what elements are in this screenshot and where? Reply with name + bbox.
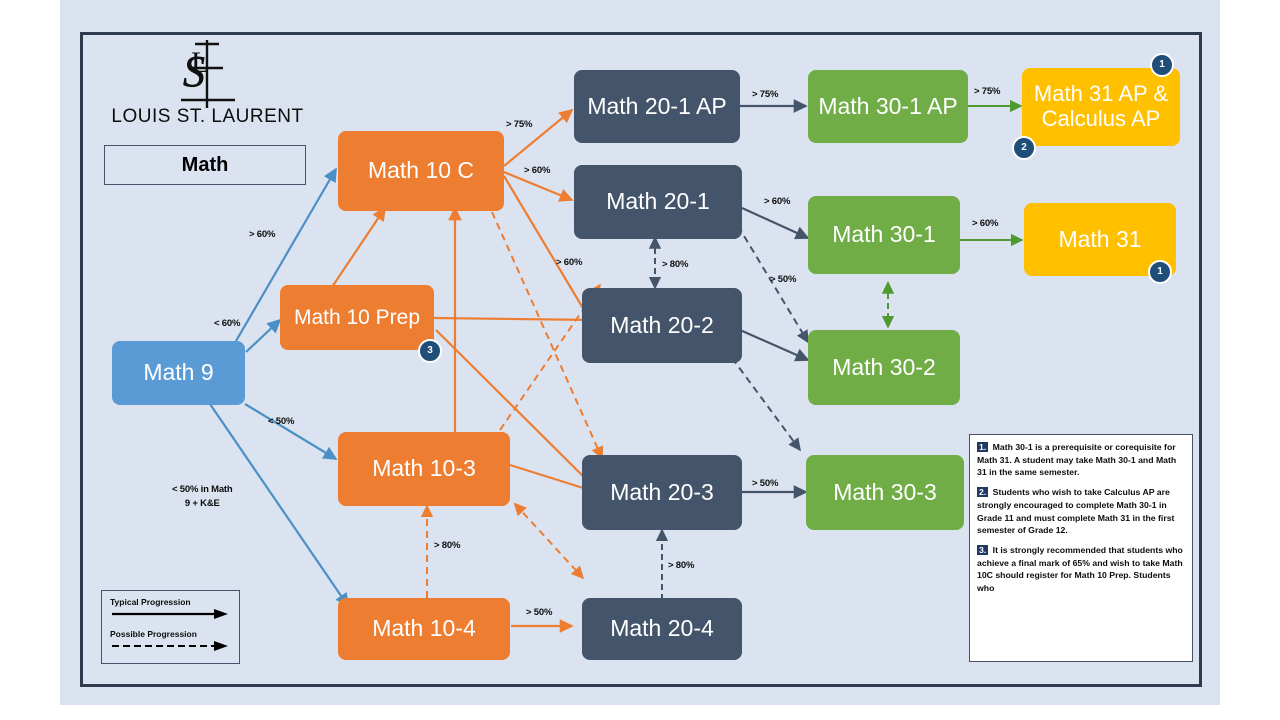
edge-math20-2-math30-3-dashed (732, 358, 800, 450)
node-math10prep-label: Math 10 Prep (288, 306, 426, 330)
node-math30-1ap[interactable]: Math 30-1 AP (808, 70, 968, 143)
edge-label-math20-1-math30-1: > 60% (764, 196, 790, 207)
node-math10-3-label: Math 10-3 (366, 456, 482, 482)
legend-possible-label: Possible Progression (110, 629, 232, 639)
edge-label-math20-1-math20-2: > 80% (662, 259, 688, 270)
node-math30-1ap-label: Math 30-1 AP (812, 94, 963, 120)
note-text-3: It is strongly recommended that students… (977, 545, 1183, 593)
node-math10c-label: Math 10 C (362, 158, 480, 184)
node-math10-3[interactable]: Math 10-3 (338, 432, 510, 506)
badge-note-2[interactable]: 2 (1012, 136, 1036, 160)
edge-math9-math10prep (246, 320, 280, 352)
badge-note-1-top[interactable]: 1 (1150, 53, 1174, 77)
edge-math20-2-math30-2 (740, 330, 808, 360)
legend-typical-label: Typical Progression (110, 597, 232, 607)
edge-label-math20-1ap-math30-1ap: > 75% (752, 89, 778, 100)
node-math31[interactable]: Math 31 1 (1024, 203, 1176, 276)
node-math20-3[interactable]: Math 20-3 (582, 455, 742, 530)
edge-math10prep-math20-2 (434, 318, 596, 320)
node-math10c[interactable]: Math 10 C (338, 131, 504, 211)
node-math20-4-label: Math 20-4 (604, 616, 720, 642)
school-logo: S L LOUIS ST. LAURENT (95, 38, 320, 138)
lsl-monogram-icon: S L (95, 38, 320, 110)
node-math20-2[interactable]: Math 20-2 (582, 288, 742, 363)
node-math30-2[interactable]: Math 30-2 (808, 330, 960, 405)
flowchart-canvas: S L LOUIS ST. LAURENT Math (0, 0, 1280, 720)
note-text-2: Students who wish to take Calculus AP ar… (977, 487, 1174, 535)
node-math20-1ap[interactable]: Math 20-1 AP (574, 70, 740, 143)
node-math10-4[interactable]: Math 10-4 (338, 598, 510, 660)
note-number-1: 1. (977, 442, 988, 452)
node-math10prep[interactable]: Math 10 Prep 3 (280, 285, 434, 350)
edge-label-math30-1-math31: > 60% (972, 218, 998, 229)
edge-label-math20-3-math30-3: > 50% (752, 478, 778, 489)
edge-math9-math10-3 (245, 404, 336, 459)
edge-label-math9-math10prep: < 60% (214, 318, 240, 329)
node-math31ap-label: Math 31 AP & Calculus AP (1028, 82, 1174, 131)
school-name: LOUIS ST. LAURENT (95, 106, 320, 128)
badge-note-1[interactable]: 1 (1148, 260, 1172, 284)
legend-dashed-arrow-icon (110, 640, 232, 652)
node-math30-3-label: Math 30-3 (827, 480, 943, 506)
edge-label-math10c-math20-2: > 60% (556, 257, 582, 268)
edge-label-math20-1-math30-2: > 50% (770, 274, 796, 285)
legend-box: Typical Progression Possible Progression (101, 590, 240, 664)
node-math30-2-label: Math 30-2 (826, 355, 942, 381)
note-item-2: 2. Students who wish to take Calculus AP… (977, 486, 1185, 537)
subject-title-box: Math (104, 145, 306, 185)
edge-math10-3-math20-4-dashed (515, 504, 583, 578)
edge-math10prep-math10c (330, 208, 385, 290)
notes-panel: 1. Math 30-1 is a prerequisite or corequ… (969, 434, 1193, 662)
edge-label-math9-math10c: > 60% (249, 229, 275, 240)
node-math20-1-label: Math 20-1 (600, 189, 716, 215)
note-item-1: 1. Math 30-1 is a prerequisite or corequ… (977, 441, 1185, 479)
subject-title: Math (182, 154, 229, 177)
edge-label-math10c-math20-1: > 60% (524, 165, 550, 176)
edge-label-math10-4-math20-4: > 50% (526, 607, 552, 618)
edge-label-math20-4-math20-3: > 80% (668, 560, 694, 571)
node-math20-2-label: Math 20-2 (604, 313, 720, 339)
node-math30-1[interactable]: Math 30-1 (808, 196, 960, 274)
node-math20-1ap-label: Math 20-1 AP (581, 94, 732, 120)
node-math30-3[interactable]: Math 30-3 (806, 455, 964, 530)
note-text-1: Math 30-1 is a prerequisite or corequisi… (977, 442, 1176, 477)
svg-text:L: L (191, 46, 209, 79)
edge-math20-1-math30-1 (742, 208, 808, 238)
node-math9[interactable]: Math 9 (112, 341, 245, 405)
edge-label-math9-math10-4: < 50% in Math 9 + K&E (172, 483, 233, 511)
edge-label-math10-4-math10-3: > 80% (434, 540, 460, 551)
note-item-3: 3. It is strongly recommended that stude… (977, 544, 1185, 595)
edge-label-math10c-math20-1ap: > 75% (506, 119, 532, 130)
node-math20-3-label: Math 20-3 (604, 480, 720, 506)
legend-solid-arrow-icon (110, 608, 232, 620)
node-math9-label: Math 9 (137, 360, 219, 386)
note-number-2: 2. (977, 487, 988, 497)
node-math31ap[interactable]: Math 31 AP & Calculus AP 1 2 (1022, 68, 1180, 146)
node-math10-4-label: Math 10-4 (366, 616, 482, 642)
node-math20-1[interactable]: Math 20-1 (574, 165, 742, 239)
node-math31-label: Math 31 (1052, 227, 1147, 253)
node-math30-1-label: Math 30-1 (826, 222, 942, 248)
badge-note-3[interactable]: 3 (418, 339, 442, 363)
edge-math10c-math20-1 (504, 172, 572, 200)
node-math20-4[interactable]: Math 20-4 (582, 598, 742, 660)
note-number-3: 3. (977, 545, 988, 555)
edge-label-math30-1ap-math31ap: > 75% (974, 86, 1000, 97)
edge-label-math9-math10-3: < 50% (268, 416, 294, 427)
